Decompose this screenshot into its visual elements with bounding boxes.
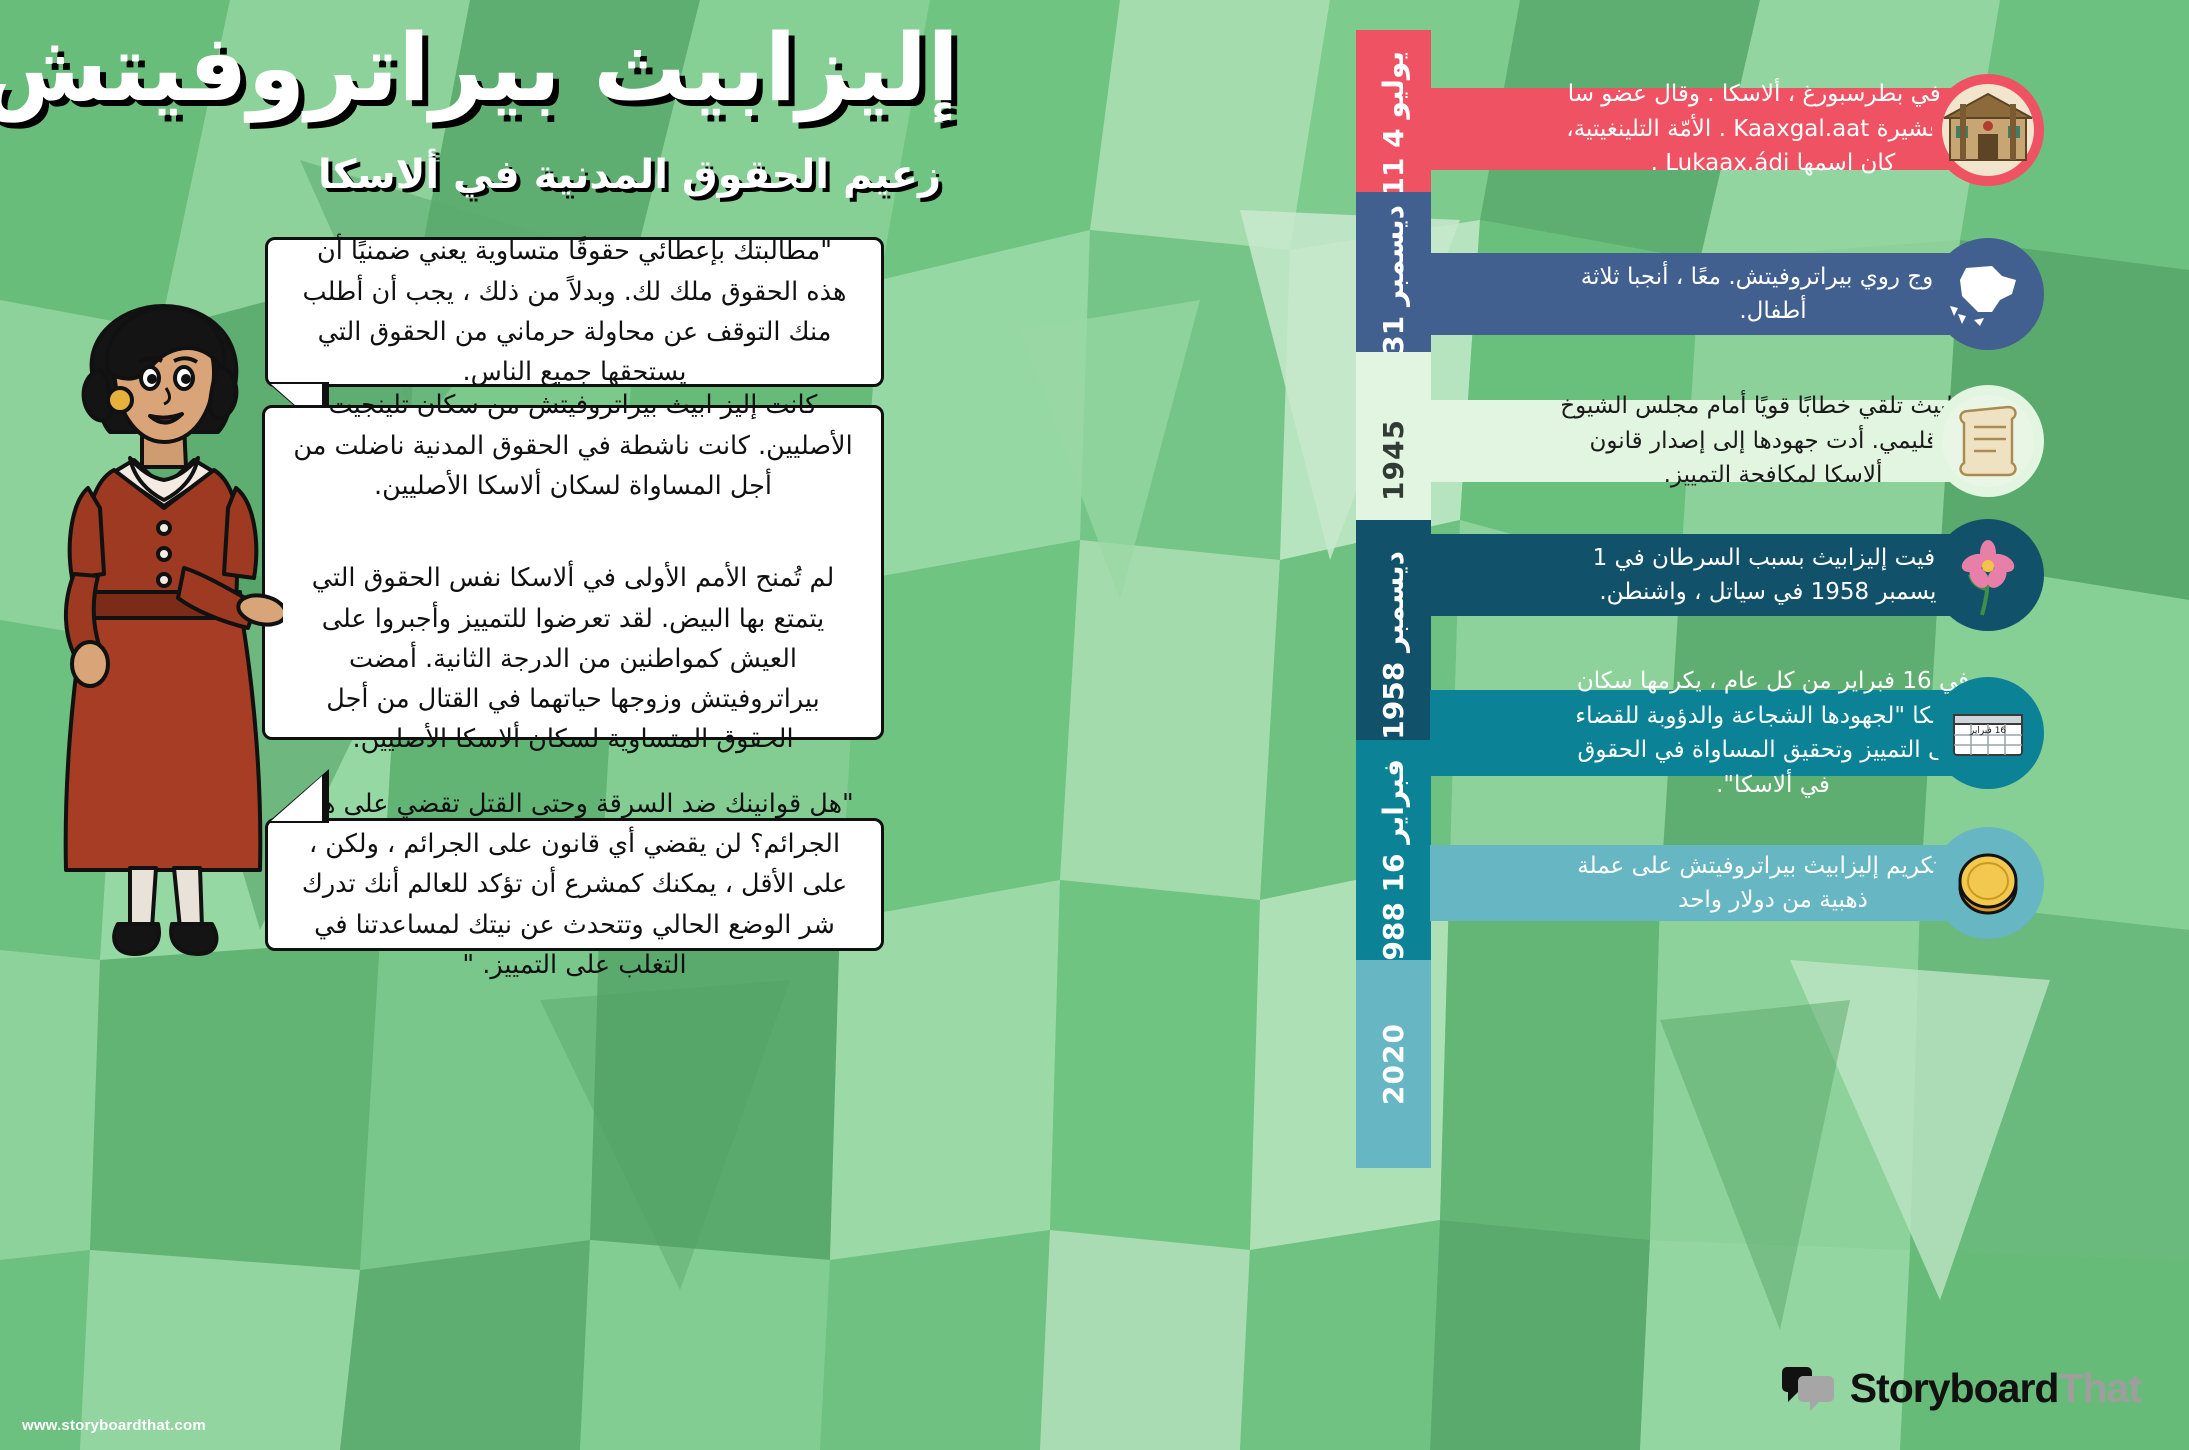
timeline-icon-3 xyxy=(1932,519,2044,631)
page-subtitle: زعيم الحقوق المدنية في ألاسكا xyxy=(300,152,959,198)
timeline-chevron-3[interactable]: ديسمبر 1958 xyxy=(1356,520,1431,770)
speech-bubbles-icon xyxy=(1780,1366,1836,1412)
timeline-date-2: 1945 xyxy=(1377,419,1410,501)
quote-bottom-text: "هل قوانينك ضد السرقة وحتى القتل تقضي عل… xyxy=(294,784,855,985)
page-title: إليزابيث بيراتروفيتش xyxy=(300,18,959,118)
alaska-map-icon xyxy=(1940,246,2036,342)
title-block: إليزابيث بيراتروفيتش زعيم الحقوق المدنية… xyxy=(300,18,959,198)
timeline-date-3: ديسمبر 1958 xyxy=(1377,551,1410,740)
timeline-date-5: 2020 xyxy=(1377,1023,1410,1105)
gold-coin-icon xyxy=(1940,835,2036,931)
biography-paragraph-2: لم تُمنح الأمم الأولى في ألاسكا نفس الحق… xyxy=(291,558,855,759)
timeline-chevron-5[interactable]: 2020 xyxy=(1356,960,1431,1168)
calendar-icon: 16 فبراير xyxy=(1940,685,2036,781)
biography-panel: كانت إليز ابيث بيراتروفيتش من سكان تلينج… xyxy=(262,405,884,740)
timeline-icon-2 xyxy=(1932,385,2044,497)
timeline-icon-4: 16 فبراير xyxy=(1932,677,2044,789)
quote-top-text: "مطالبتك بإعطائي حقوقًا متساوية يعني ضمن… xyxy=(294,231,855,392)
timeline-icon-5 xyxy=(1932,827,2044,939)
storyboardthat-url[interactable]: www.storyboardthat.com xyxy=(22,1417,206,1434)
elizabeth-peratrovich-character xyxy=(38,292,283,972)
quote-bubble-bottom: "هل قوانينك ضد السرقة وحتى القتل تقضي عل… xyxy=(265,818,884,951)
infographic-poster: إليزابيث بيراتروفيتش زعيم الحقوق المدنية… xyxy=(0,0,2189,1450)
quote-bubble-top: "مطالبتك بإعطائي حقوقًا متساوية يعني ضمن… xyxy=(265,237,884,387)
timeline-icon-1 xyxy=(1932,238,2044,350)
timeline-icon-0 xyxy=(1932,74,2044,186)
storyboardthat-wordmark: StoryboardThat xyxy=(1850,1365,2141,1412)
storyboardthat-logo[interactable]: StoryboardThat xyxy=(1780,1365,2141,1412)
brand-primary: Storyboard xyxy=(1850,1365,2059,1411)
timeline-date-4: فبراير 16 1988 xyxy=(1377,759,1410,980)
scroll-document-icon xyxy=(1940,393,2036,489)
svg-text:16 فبراير: 16 فبراير xyxy=(1969,726,2007,736)
tlingit-clan-house-icon xyxy=(1940,82,2036,178)
brand-secondary: That xyxy=(2058,1365,2141,1411)
biography-paragraph-1: كانت إليز ابيث بيراتروفيتش من سكان تلينج… xyxy=(291,385,855,506)
flower-icon xyxy=(1940,527,2036,623)
